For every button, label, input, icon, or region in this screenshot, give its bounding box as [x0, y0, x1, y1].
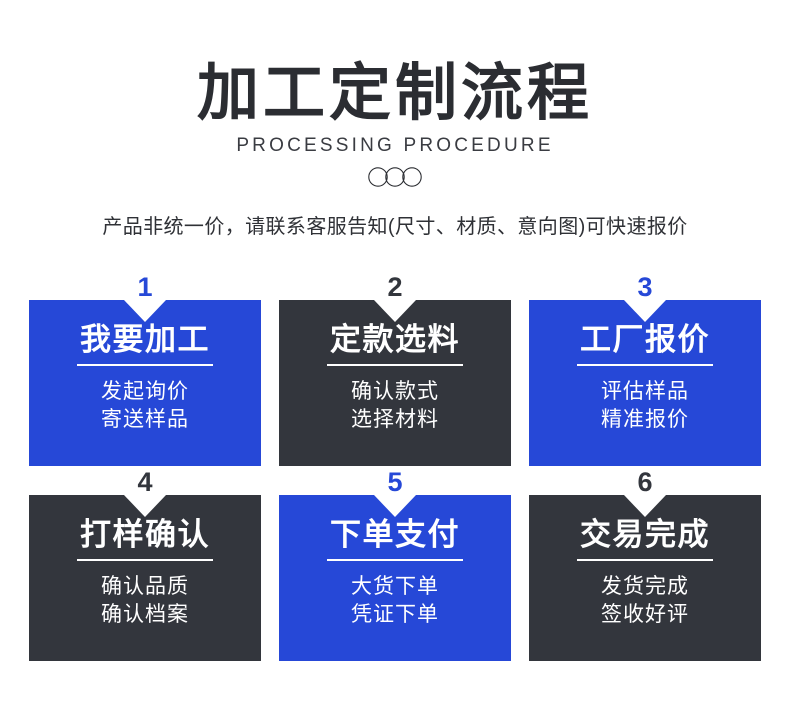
- step-detail-1: 发起询价 寄送样品: [29, 378, 261, 434]
- step-detail-line-3a: 评估样品: [529, 378, 761, 406]
- step-title-4: 打样确认: [77, 517, 213, 561]
- step-detail-line-1b: 寄送样品: [29, 406, 261, 434]
- step-card-5[interactable]: 5 下单支付 大货下单 凭证下单: [279, 495, 511, 661]
- step-detail-line-1a: 发起询价: [29, 378, 261, 406]
- pricing-note: 产品非统一价，请联系客服告知(尺寸、材质、意向图)可快速报价: [0, 210, 790, 239]
- step-card-4[interactable]: 4 打样确认 确认品质 确认档案: [29, 495, 261, 661]
- step-card-6[interactable]: 6 交易完成 发货完成 签收好评: [529, 495, 761, 661]
- step-detail-4: 确认品质 确认档案: [29, 573, 261, 629]
- step-card-3[interactable]: 3 工厂报价 评估样品 精准报价: [529, 300, 761, 466]
- step-title-2: 定款选料: [327, 322, 463, 366]
- step-detail-5: 大货下单 凭证下单: [279, 573, 511, 629]
- page-title: 加工定制流程: [0, 62, 790, 125]
- step-detail-line-6b: 签收好评: [529, 601, 761, 629]
- step-card-1[interactable]: 1 我要加工 发起询价 寄送样品: [29, 300, 261, 466]
- steps-grid: 1 我要加工 发起询价 寄送样品 2 定款选料 确认款式 选择材料 3 工厂报价…: [29, 300, 761, 661]
- step-number-2: 2: [279, 274, 511, 300]
- notch-triangle-icon: [124, 495, 166, 517]
- step-title-6: 交易完成: [577, 517, 713, 561]
- step-detail-line-3b: 精准报价: [529, 406, 761, 434]
- step-detail-3: 评估样品 精准报价: [529, 378, 761, 434]
- step-card-2[interactable]: 2 定款选料 确认款式 选择材料: [279, 300, 511, 466]
- step-number-4: 4: [29, 469, 261, 495]
- step-detail-6: 发货完成 签收好评: [529, 573, 761, 629]
- header-block: 加工定制流程 PROCESSING PROCEDURE 产品非统一价，请联系客服…: [0, 0, 790, 239]
- page-subtitle: PROCESSING PROCEDURE: [0, 135, 790, 157]
- step-detail-line-4a: 确认品质: [29, 573, 261, 601]
- notch-triangle-icon: [374, 300, 416, 322]
- step-title-1: 我要加工: [77, 322, 213, 366]
- three-rings-icon: [366, 166, 424, 188]
- step-detail-line-2b: 选择材料: [279, 406, 511, 434]
- step-number-6: 6: [529, 469, 761, 495]
- step-title-3: 工厂报价: [577, 322, 713, 366]
- step-number-1: 1: [29, 274, 261, 300]
- step-detail-line-5a: 大货下单: [279, 573, 511, 601]
- step-detail-line-4b: 确认档案: [29, 601, 261, 629]
- notch-triangle-icon: [374, 495, 416, 517]
- notch-triangle-icon: [624, 300, 666, 322]
- step-number-5: 5: [279, 469, 511, 495]
- step-number-3: 3: [529, 274, 761, 300]
- notch-triangle-icon: [624, 495, 666, 517]
- step-detail-line-6a: 发货完成: [529, 573, 761, 601]
- step-detail-2: 确认款式 选择材料: [279, 378, 511, 434]
- step-detail-line-2a: 确认款式: [279, 378, 511, 406]
- notch-triangle-icon: [124, 300, 166, 322]
- step-detail-line-5b: 凭证下单: [279, 601, 511, 629]
- step-title-5: 下单支付: [327, 517, 463, 561]
- processing-procedure-infographic: 加工定制流程 PROCESSING PROCEDURE 产品非统一价，请联系客服…: [0, 0, 790, 708]
